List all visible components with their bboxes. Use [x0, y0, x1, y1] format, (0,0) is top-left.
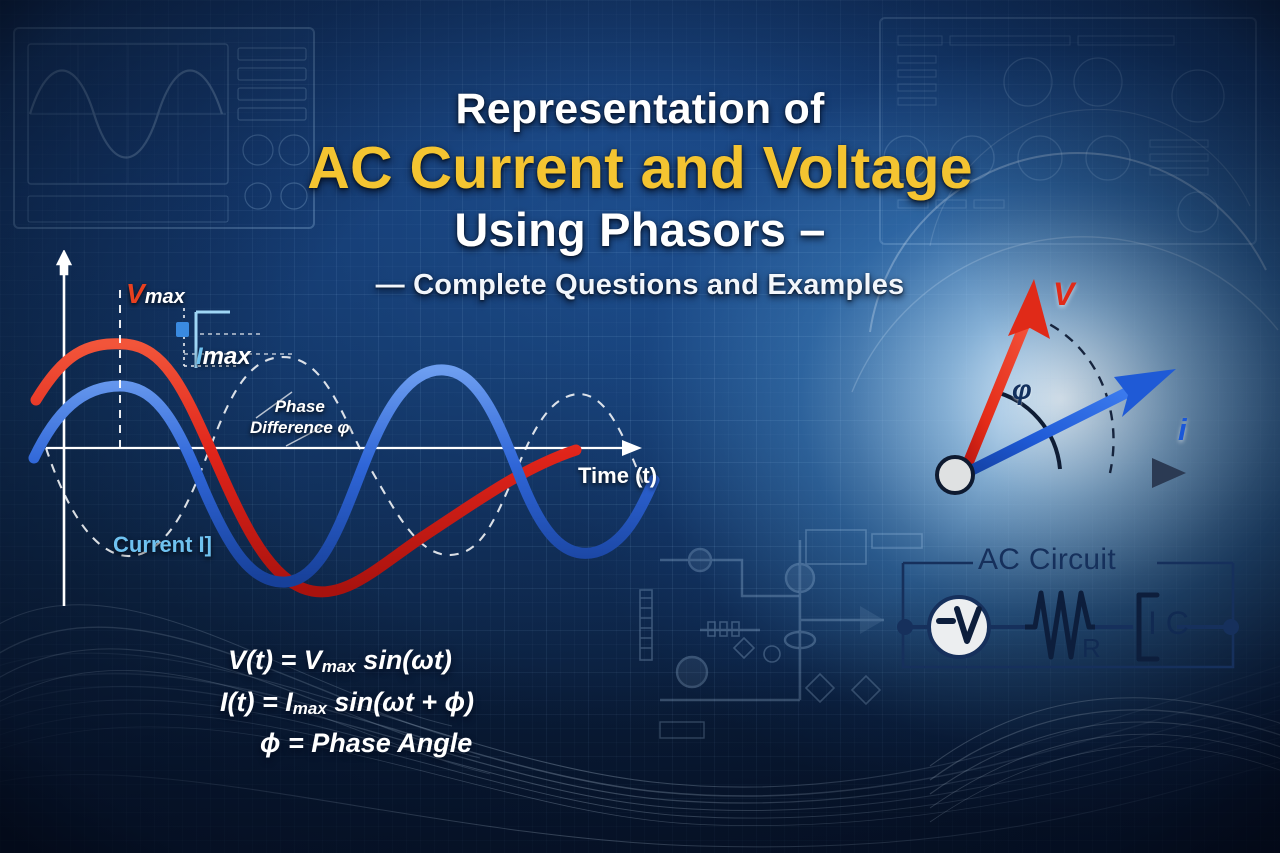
chart-axes	[46, 252, 642, 606]
circuit-terminal-left	[897, 619, 913, 635]
projection-arc-dashed	[1034, 317, 1114, 473]
ac-source-symbol	[929, 597, 989, 657]
circuit-terminal-right	[1223, 619, 1239, 635]
imax-marker	[176, 322, 189, 337]
imax-bracket	[196, 312, 230, 368]
background-oscilloscope	[14, 28, 314, 228]
chart-guides	[120, 290, 296, 448]
y-axis-arrow	[58, 252, 70, 274]
waveform-chart	[24, 250, 714, 630]
capacitor-symbol	[1139, 595, 1157, 659]
phasor-origin-node	[937, 457, 973, 493]
phasor-diagram	[900, 245, 1230, 520]
voltage-phasor-arrow	[964, 279, 1050, 473]
current-curve	[34, 370, 654, 582]
phase-leader-lines	[256, 392, 324, 446]
ac-circuit-diagram	[895, 535, 1240, 690]
poster-canvas: Representation of AC Current and Voltage…	[0, 0, 1280, 853]
x-axis-arrow	[622, 440, 642, 456]
resistor-symbol	[1025, 593, 1095, 657]
